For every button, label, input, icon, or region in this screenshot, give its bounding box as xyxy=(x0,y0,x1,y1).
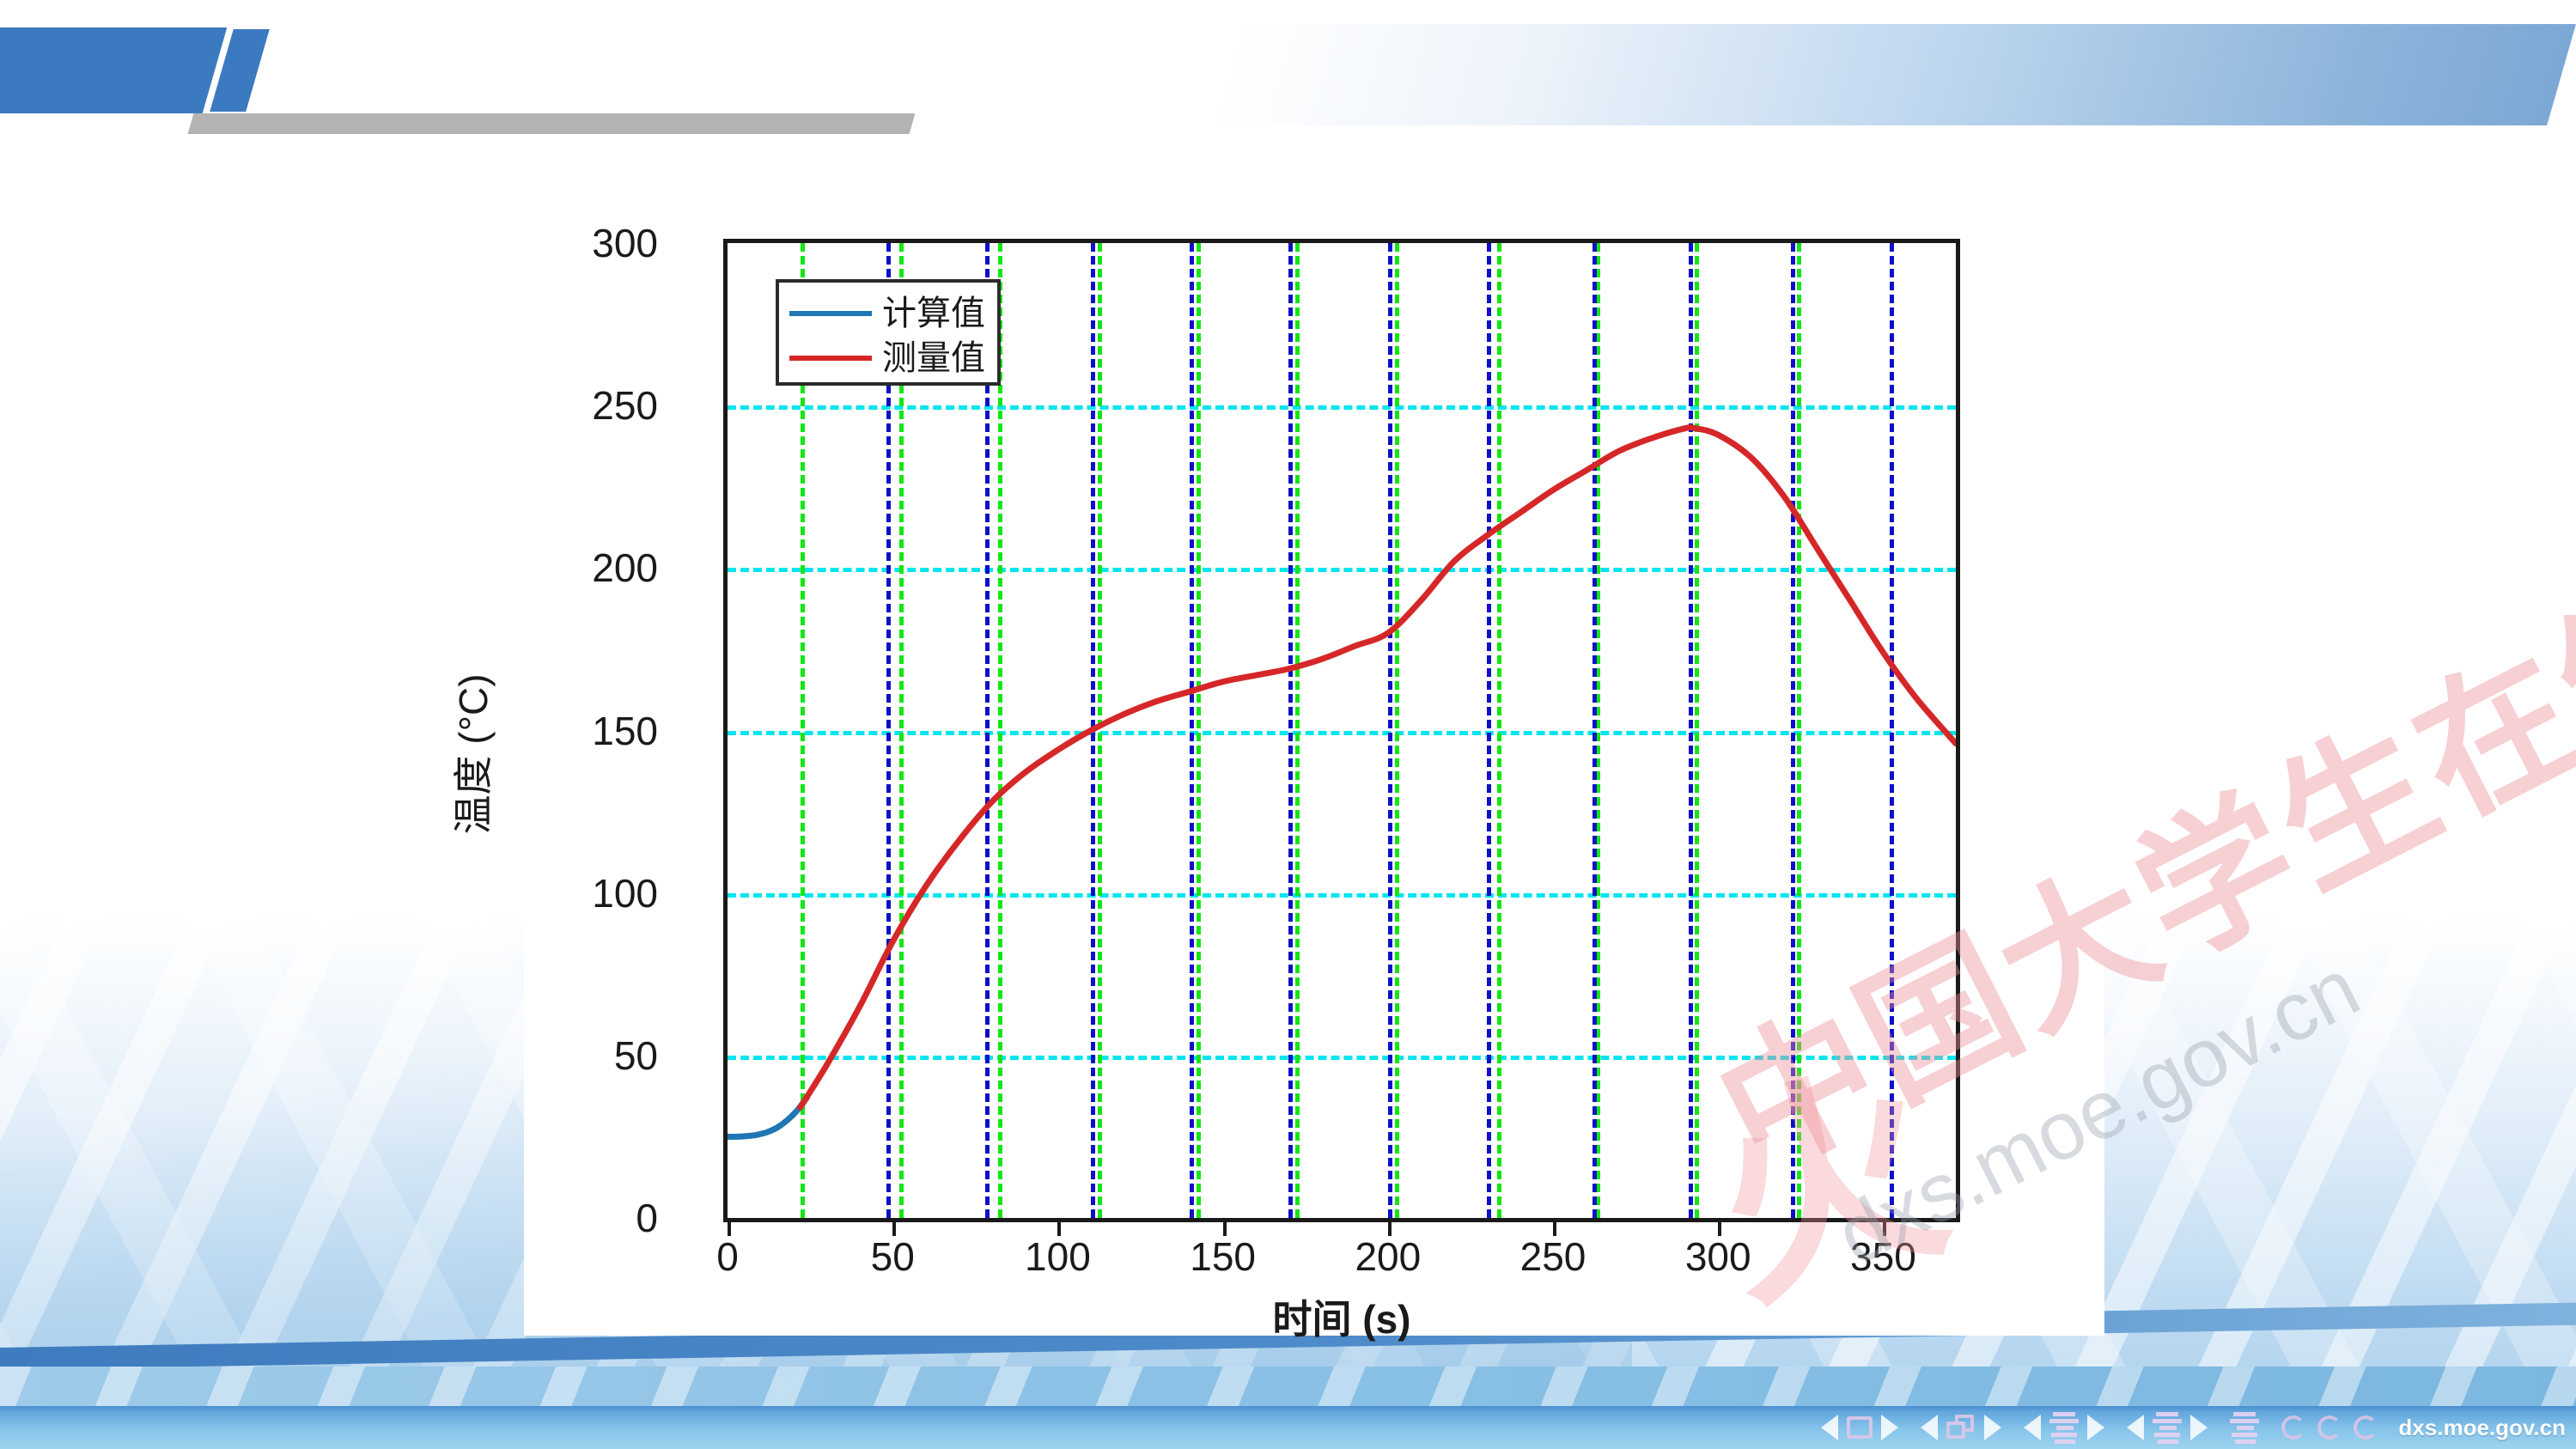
legend-entry-calculated: 计算值 xyxy=(779,291,997,336)
x-axis-tick-label: 0 xyxy=(716,1233,739,1280)
triangle-right-icon[interactable] xyxy=(2190,1415,2208,1440)
x-axis-tick-label: 100 xyxy=(1025,1233,1091,1280)
header-gradient-band xyxy=(0,24,2576,125)
y-axis-tick-label: 150 xyxy=(592,708,658,754)
legend-swatch-measured xyxy=(789,356,872,361)
x-axis-tick-mark xyxy=(1718,1222,1721,1236)
legend-swatch-calculated xyxy=(789,311,872,316)
y-axis-tick-label: 50 xyxy=(614,1032,658,1079)
y-axis-tick-label: 0 xyxy=(636,1195,658,1241)
magnifier-icon[interactable] xyxy=(2317,1416,2342,1440)
y-axis-tick-label: 250 xyxy=(592,382,658,429)
refresh-icon[interactable] xyxy=(2354,1416,2378,1440)
x-axis-label: 时间 (s) xyxy=(723,1288,1960,1345)
undo-icon[interactable] xyxy=(2281,1416,2305,1440)
triangle-left-icon[interactable] xyxy=(2127,1415,2144,1440)
presentation-navbar: dxs.moe.gov.cn xyxy=(0,1406,2576,1449)
x-axis-tick-label: 350 xyxy=(1850,1233,1916,1280)
nav-group-slide xyxy=(1821,1415,1898,1440)
legend-label-measured: 测量值 xyxy=(882,341,985,375)
series-curves xyxy=(728,243,1956,1218)
chart-legend: 计算值 测量值 xyxy=(776,279,1001,386)
x-axis-tick-label: 200 xyxy=(1355,1233,1421,1280)
y-axis-tick-label: 200 xyxy=(592,545,658,591)
nav-group-window xyxy=(1921,1415,2001,1440)
square-icon[interactable] xyxy=(1847,1416,1873,1439)
x-axis-tick-mark xyxy=(728,1222,731,1236)
event-line-blue xyxy=(1956,243,1960,1218)
legend-entry-measured: 测量值 xyxy=(779,336,997,381)
x-axis-tick-label: 300 xyxy=(1685,1233,1751,1280)
nav-group-list xyxy=(2024,1412,2104,1444)
nav-group-thumbnails xyxy=(2230,1412,2259,1444)
slide-canvas: 温度 (°C) 时间 (s) 050100150200250300 050100… xyxy=(0,0,2576,1449)
chart-figure: 温度 (°C) 时间 (s) 050100150200250300 050100… xyxy=(524,172,2104,1336)
x-axis-tick-mark xyxy=(1388,1222,1392,1236)
triangle-left-icon[interactable] xyxy=(1921,1415,1938,1440)
triangle-right-icon[interactable] xyxy=(2087,1415,2104,1440)
x-axis-tick-mark xyxy=(1223,1222,1227,1236)
triangle-right-icon[interactable] xyxy=(1881,1415,1898,1440)
nav-group-outline xyxy=(2127,1412,2208,1444)
lines-icon[interactable] xyxy=(2049,1412,2079,1444)
triangle-left-icon[interactable] xyxy=(2024,1415,2041,1440)
plot-area: 计算值 测量值 xyxy=(723,239,1960,1222)
triangle-right-icon[interactable] xyxy=(1984,1415,2001,1440)
navbar-url-label: dxs.moe.gov.cn xyxy=(2398,1415,2566,1441)
series-line-measured xyxy=(801,427,1956,1107)
x-axis-tick-label: 50 xyxy=(871,1233,915,1280)
chart-card: 温度 (°C) 时间 (s) 050100150200250300 050100… xyxy=(524,172,2104,1336)
x-axis-tick-mark xyxy=(892,1222,896,1236)
legend-label-calculated: 计算值 xyxy=(882,296,985,331)
x-axis-tick-label: 150 xyxy=(1190,1233,1256,1280)
header-gray-bar xyxy=(188,113,916,134)
y-axis-label: 温度 (°C) xyxy=(442,673,499,834)
nav-group-tools xyxy=(2281,1416,2378,1440)
x-axis-tick-mark xyxy=(1057,1222,1061,1236)
y-axis-tick-label: 300 xyxy=(592,220,658,266)
header-blue-shape-large xyxy=(0,27,227,113)
x-axis-tick-mark xyxy=(1883,1222,1886,1236)
x-axis-tick-mark xyxy=(1553,1222,1556,1236)
series-line-calculated xyxy=(728,1098,807,1136)
lines-icon[interactable] xyxy=(2153,1412,2182,1444)
y-axis-tick-label: 100 xyxy=(592,870,658,916)
triangle-left-icon[interactable] xyxy=(1821,1415,1838,1440)
lines-icon[interactable] xyxy=(2230,1412,2259,1444)
copy-icon[interactable] xyxy=(1946,1415,1976,1440)
x-axis-tick-label: 250 xyxy=(1520,1233,1586,1280)
